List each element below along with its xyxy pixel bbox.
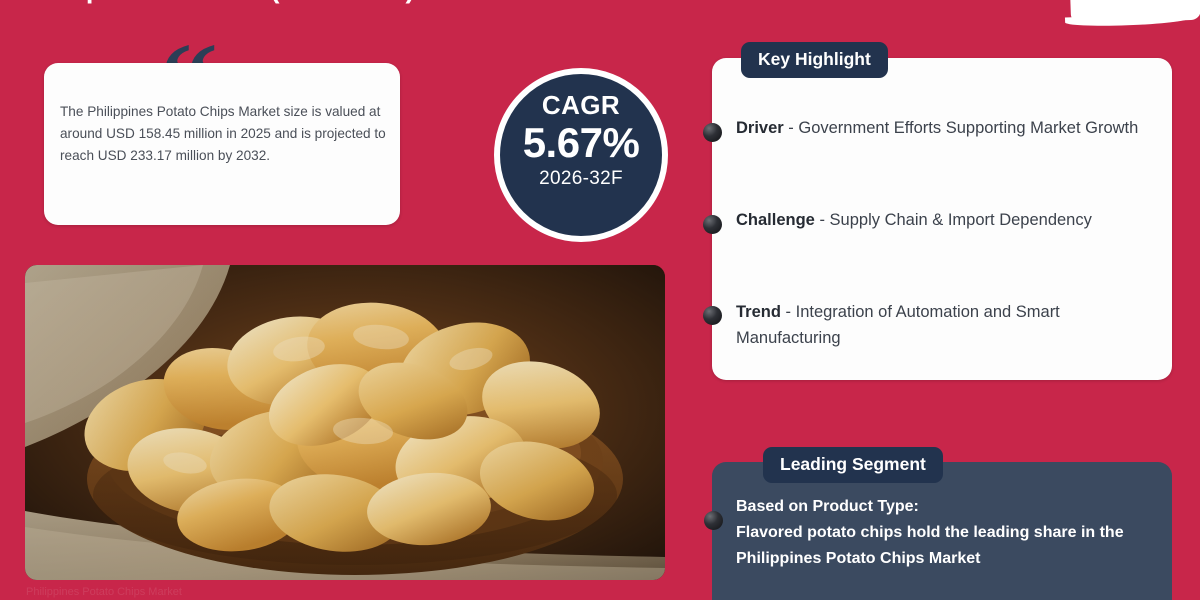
cagr-value: 5.67% bbox=[500, 119, 662, 167]
cagr-period: 2026-32F bbox=[500, 168, 662, 190]
product-photo bbox=[25, 265, 665, 580]
bullet-point-icon bbox=[704, 511, 723, 530]
leading-segment-detail: Flavored potato chips hold the leading s… bbox=[736, 520, 1162, 572]
corner-logo-badge bbox=[1069, 0, 1200, 24]
bullet-point-icon bbox=[703, 215, 722, 234]
leading-segment-body: Based on Product Type: Flavored potato c… bbox=[736, 494, 1162, 572]
bullet-point-icon bbox=[703, 123, 722, 142]
footer-watermark: Philippines Potato Chips Market bbox=[26, 586, 182, 598]
key-highlight-item-label: Driver bbox=[736, 119, 784, 137]
key-highlight-badge: Key Highlight bbox=[741, 42, 888, 78]
page-title: Report: Forecast (2026-2032) bbox=[52, 0, 414, 5]
market-summary-card: The Philippines Potato Chips Market size… bbox=[44, 63, 400, 225]
key-highlight-item-label: Trend bbox=[736, 303, 781, 321]
cagr-badge: CAGR 5.67% 2026-32F bbox=[494, 68, 668, 242]
key-highlight-item-separator: - bbox=[815, 211, 830, 229]
key-highlight-item-label: Challenge bbox=[736, 211, 815, 229]
leading-segment-heading: Based on Product Type: bbox=[736, 494, 1162, 520]
key-highlight-item-separator: - bbox=[781, 303, 796, 321]
leading-segment-badge: Leading Segment bbox=[763, 447, 943, 483]
key-highlight-item-challenge: Challenge - Supply Chain & Import Depend… bbox=[736, 208, 1154, 234]
key-highlight-item-trend: Trend - Integration of Automation and Sm… bbox=[736, 300, 1154, 351]
key-highlight-item-text: Supply Chain & Import Dependency bbox=[830, 211, 1092, 229]
key-highlight-item-driver: Driver - Government Efforts Supporting M… bbox=[736, 116, 1154, 142]
bullet-point-icon bbox=[703, 306, 722, 325]
market-summary-text: The Philippines Potato Chips Market size… bbox=[60, 101, 386, 167]
cagr-label: CAGR bbox=[500, 90, 662, 121]
key-highlight-item-text: Government Efforts Supporting Market Gro… bbox=[798, 119, 1138, 137]
key-highlight-card: Driver - Government Efforts Supporting M… bbox=[712, 58, 1172, 380]
key-highlight-item-separator: - bbox=[784, 119, 799, 137]
